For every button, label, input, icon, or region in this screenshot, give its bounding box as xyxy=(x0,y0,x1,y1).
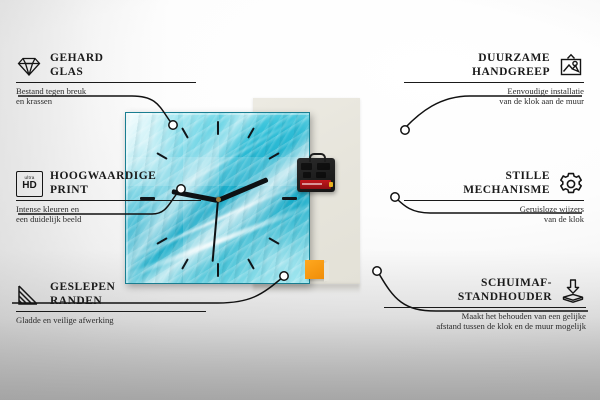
feature-desc-line1: Intense kleuren en xyxy=(16,204,79,214)
feature-title-line1: HOOGWAARDIGE xyxy=(50,170,156,182)
ultra-hd-icon: ultra HD xyxy=(16,171,42,197)
feature-divider xyxy=(404,200,584,201)
feature-title-line1: SCHUIMAF- xyxy=(481,277,552,289)
connector-dot-stille-mechanisme xyxy=(391,193,399,201)
feature-desc-line2: afstand tussen de klok en de muur mogeli… xyxy=(436,321,586,331)
feature-title-line1: DUURZAME xyxy=(478,52,550,64)
feature-desc-line2: en krassen xyxy=(16,96,52,106)
feature-title-line2: STANDHOUDER xyxy=(458,291,552,303)
feature-desc-line1: Gladde en veilige afwerking xyxy=(16,315,114,325)
feature-desc-line1: Eenvoudige installatie xyxy=(507,86,584,96)
gear-icon xyxy=(558,171,584,197)
feature-desc-line2: een duidelijk beeld xyxy=(16,214,81,224)
feature-title-line2: HANDGREEP xyxy=(472,66,550,78)
feature-desc-line2: van de klok aan de muur xyxy=(499,96,584,106)
feature-divider xyxy=(404,82,584,83)
picture-hanger-icon xyxy=(558,53,584,79)
connector-dot-gehard-glas xyxy=(169,121,177,129)
feature-desc-line1: Bestand tegen breuk xyxy=(16,86,86,96)
feature-desc-line2: van de klok xyxy=(544,214,584,224)
feature-title-line1: GESLEPEN xyxy=(50,281,115,293)
feature-title-line1: GEHARD xyxy=(50,52,103,64)
beveled-edges-icon xyxy=(16,282,42,308)
connector-dot-schuimafstandhouder xyxy=(373,267,381,275)
feature-title-line2: GLAS xyxy=(50,66,83,78)
feature-title-line2: PRINT xyxy=(50,184,88,196)
connector-dot-duurzame-handgreep xyxy=(401,126,409,134)
feature-schuimafstandhouder: SCHUIMAF- STANDHOUDER Maakt het behouden… xyxy=(384,277,586,332)
feature-title-line2: RANDEN xyxy=(50,295,102,307)
feature-desc-line1: Geruisloze wijzers xyxy=(520,204,584,214)
feature-divider xyxy=(384,307,586,308)
ultra-hd-icon-main-text: HD xyxy=(22,181,36,191)
foam-spacer-icon xyxy=(560,278,586,304)
feature-stille-mechanisme: STILLE MECHANISME Geruisloze wijzers van… xyxy=(404,170,584,225)
diamond-icon xyxy=(16,53,42,79)
feature-desc-line1: Maakt het behouden van een gelijke xyxy=(462,311,586,321)
feature-hoogwaardige-print: ultra HD HOOGWAARDIGE PRINT Intense kleu… xyxy=(16,170,201,225)
feature-title-line2: MECHANISME xyxy=(463,184,550,196)
feature-geslepen-randen: GESLEPEN RANDEN Gladde en veilige afwerk… xyxy=(16,281,206,325)
feature-divider xyxy=(16,200,201,201)
feature-divider xyxy=(16,82,196,83)
feature-gehard-glas: GEHARD GLAS Bestand tegen breuk en krass… xyxy=(16,52,196,107)
feature-divider xyxy=(16,311,206,312)
product-infographic: GEHARD GLAS Bestand tegen breuk en krass… xyxy=(0,0,600,400)
feature-duurzame-handgreep: DUURZAME HANDGREEP Eenvoudige installati… xyxy=(404,52,584,107)
feature-title-line1: STILLE xyxy=(505,170,550,182)
connector-dot-geslepen-randen xyxy=(280,272,288,280)
